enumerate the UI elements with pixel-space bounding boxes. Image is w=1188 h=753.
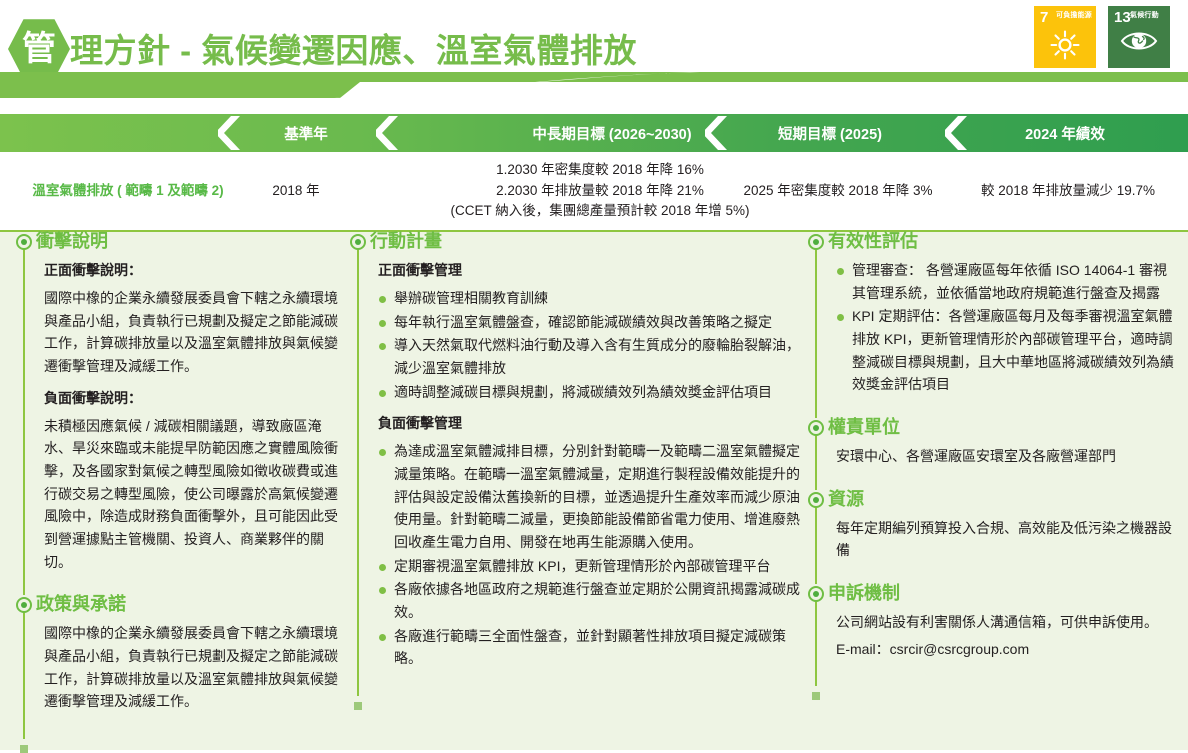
page-header: 管 理方針 - 氣候變遷因應、溫室氣體排放 7 可負擔能源 [0, 0, 1188, 100]
paragraph: 國際中橡的企業永續發展委員會下轄之永續環境與產品小組，負責執行已規劃及擬定之節能… [44, 622, 344, 713]
rail-end-cap [20, 745, 28, 753]
section-rail [806, 584, 828, 686]
rail-line [815, 242, 817, 418]
section-權責單位: 權責單位安環中心、各營運廠區安環室及各廠營運部門 [806, 418, 1178, 490]
section-gap [828, 566, 1178, 584]
header-decoration-band [0, 72, 1188, 100]
rail-line [815, 428, 817, 490]
section-有效性評估: 有效性評估管理審查： 各營運廠區每年依循 ISO 14064-1 審視其管理系統… [806, 232, 1178, 418]
section-資源: 資源每年定期編列預算投入合規、高效能及低污染之機器設備 [806, 490, 1178, 584]
section-rail [806, 418, 828, 490]
chevron-divider-icon [945, 114, 971, 152]
section-行動計畫: 行動計畫正面衝擊管理舉辦碳管理相關教育訓練每年執行溫室氣體盤查，確認節能減碳績效… [348, 232, 800, 696]
detail-panel: 衝擊說明正面衝擊說明：國際中橡的企業永續發展委員會下轄之永續環境與產品小組，負責… [0, 232, 1188, 750]
earth-eye-icon [1108, 28, 1170, 54]
section-title: 申訴機制 [828, 584, 1178, 602]
rail-end-cap [354, 702, 362, 710]
section-gap [36, 577, 344, 595]
list-item: 舉辦碳管理相關教育訓練 [378, 287, 800, 310]
goal-cell-base-year: 2018 年 [236, 152, 356, 230]
chevron-divider-icon [705, 114, 731, 152]
goal-cell-performance: 較 2018 年排放量減少 19.7% [960, 152, 1176, 230]
column-left: 衝擊說明正面衝擊說明：國際中橡的企業永續發展委員會下轄之永續環境與產品小組，負責… [14, 232, 344, 739]
rail-line [815, 594, 817, 686]
section-title: 資源 [828, 490, 1178, 508]
rail-line [23, 242, 25, 595]
paragraph: 每年定期編列預算投入合規、高效能及低污染之機器設備 [836, 517, 1178, 562]
sub-heading: 負面衝擊管理 [378, 413, 800, 434]
paragraph: 安環中心、各營運廠區安環室及各廠營運部門 [836, 445, 1178, 468]
goal-table-row: 溫室氣體排放 ( 範疇 1 及範疇 2) 2018 年 1.2030 年密集度較… [0, 152, 1188, 230]
section-rail [14, 232, 36, 595]
paragraph: E-mail：csrcir@csrcgroup.com [836, 638, 1178, 661]
goal-row-label: 溫室氣體排放 ( 範疇 1 及範疇 2) [0, 152, 256, 230]
section-title: 有效性評估 [828, 232, 1178, 250]
list-item: 導入天然氣取代燃料油行動及導入含有生質成分的廢輪胎裂解油，減少溫室氣體排放 [378, 334, 800, 379]
list-item: 各廠依據各地區政府之規範進行盤查並定期於公開資訊揭露減碳成效。 [378, 578, 800, 623]
sub-heading: 正面衝擊說明： [44, 260, 344, 281]
section-申訴機制: 申訴機制公司網站設有利害關係人溝通信箱，可供申訴使用。E-mail：csrcir… [806, 584, 1178, 686]
section-rail [806, 232, 828, 418]
sub-heading: 負面衝擊說明： [44, 388, 344, 409]
sdg-number: 7 [1040, 10, 1048, 25]
sdg-badge-13: 13 氣候行動 [1108, 6, 1170, 68]
section-rail [348, 232, 370, 696]
bullet-list: 舉辦碳管理相關教育訓練每年執行溫室氣體盤查，確認節能減碳績效與改善策略之擬定導入… [370, 287, 800, 403]
rail-line [357, 242, 359, 696]
sdg-badge-7: 7 可負擔能源 [1034, 6, 1096, 68]
section-bullet-icon [808, 586, 824, 602]
chevron-divider-icon [376, 114, 402, 152]
section-衝擊說明: 衝擊說明正面衝擊說明：國際中橡的企業永續發展委員會下轄之永續環境與產品小組，負責… [14, 232, 344, 595]
section-bullet-icon [350, 234, 366, 250]
section-title: 衝擊說明 [36, 232, 344, 250]
section-bullet-icon [808, 420, 824, 436]
list-item: 管理審查： 各營運廠區每年依循 ISO 14064-1 審視其管理系統，並依循當… [836, 259, 1178, 304]
list-item: 定期審視溫室氣體排放 KPI，更新管理情形於內部碳管理平台 [378, 555, 800, 578]
page-title: 理方針 - 氣候變遷因應、溫室氣體排放 [70, 24, 637, 72]
list-item: 適時調整減碳目標與規劃，將減碳績效列為績效獎金評估項目 [378, 381, 800, 404]
section-title: 權責單位 [828, 418, 1178, 436]
section-gap [828, 400, 1178, 418]
section-title: 行動計畫 [370, 232, 800, 250]
sdg-label: 氣候行動 [1130, 12, 1159, 19]
sdg-badge-group: 7 可負擔能源 [1034, 6, 1170, 68]
section-政策與承諾: 政策與承諾國際中橡的企業永續發展委員會下轄之永續環境與產品小組，負責執行已規劃及… [14, 595, 344, 739]
paragraph: 國際中橡的企業永續發展委員會下轄之永續環境與產品小組，負責執行已規劃及擬定之節能… [44, 287, 344, 378]
goal-column-performance: 2024 年績效 [975, 114, 1155, 152]
paragraph: 公司網站設有利害關係人溝通信箱，可供申訴使用。 [836, 611, 1178, 634]
rail-line [815, 500, 817, 584]
bullet-list: 為達成溫室氣體減排目標，分別針對範疇一及範疇二溫室氣體擬定減量策略。在範疇一溫室… [370, 440, 800, 670]
list-item: 各廠進行範疇三全面性盤查，並針對顯著性排放項目擬定減碳策略。 [378, 625, 800, 670]
rail-end-cap [812, 692, 820, 700]
section-gap [828, 472, 1178, 490]
sdg-number: 13 [1114, 10, 1131, 25]
section-bullet-icon [808, 234, 824, 250]
title-hex-badge: 管 [8, 18, 70, 80]
badge-character: 管 [22, 32, 56, 66]
section-bullet-icon [16, 234, 32, 250]
sub-heading: 正面衝擊管理 [378, 260, 800, 281]
column-right: 有效性評估管理審查： 各營運廠區每年依循 ISO 14064-1 審視其管理系統… [806, 232, 1178, 686]
section-bullet-icon [808, 492, 824, 508]
list-item: 每年執行溫室氣體盤查，確認節能減碳績效與改善策略之擬定 [378, 311, 800, 334]
sdg-label: 可負擔能源 [1056, 12, 1092, 19]
section-title: 政策與承諾 [36, 595, 344, 613]
section-bullet-icon [16, 597, 32, 613]
column-middle: 行動計畫正面衝擊管理舉辦碳管理相關教育訓練每年執行溫室氣體盤查，確認節能減碳績效… [348, 232, 800, 696]
list-item: KPI 定期評估：各營運廠區每月及每季審視溫室氣體排放 KPI，更新管理情形於內… [836, 305, 1178, 396]
goal-cell-midterm-line1: 1.2030 年密集度較 2018 年降 16% [496, 160, 704, 181]
chevron-divider-icon [218, 114, 244, 152]
goal-cell-midterm-line2: 2.2030 年排放量較 2018 年降 21% [496, 181, 704, 202]
list-item: 為達成溫室氣體減排目標，分別針對範疇一及範疇二溫室氣體擬定減量策略。在範疇一溫室… [378, 440, 800, 553]
bullet-list: 管理審查： 各營運廠區每年依循 ISO 14064-1 審視其管理系統，並依循當… [828, 259, 1178, 396]
goal-column-shortterm: 短期目標 (2025) [735, 114, 925, 152]
section-rail [806, 490, 828, 584]
goal-table-header: 基準年 中長期目標 (2026~2030) 短期目標 (2025) 2024 年… [0, 114, 1188, 152]
section-rail [14, 595, 36, 739]
rail-line [23, 605, 25, 739]
goal-column-base-year: 基準年 [236, 114, 376, 152]
paragraph: 未積極因應氣候 / 減碳相關議題，導致廠區淹水、旱災來臨或未能提早防範因應之實體… [44, 415, 344, 574]
sun-icon [1034, 28, 1096, 62]
goal-cell-midterm-line3: (CCET 納入後，集團總產量預計較 2018 年增 5%) [450, 201, 749, 222]
goal-cell-shortterm: 2025 年密集度較 2018 年降 3% [735, 152, 941, 230]
